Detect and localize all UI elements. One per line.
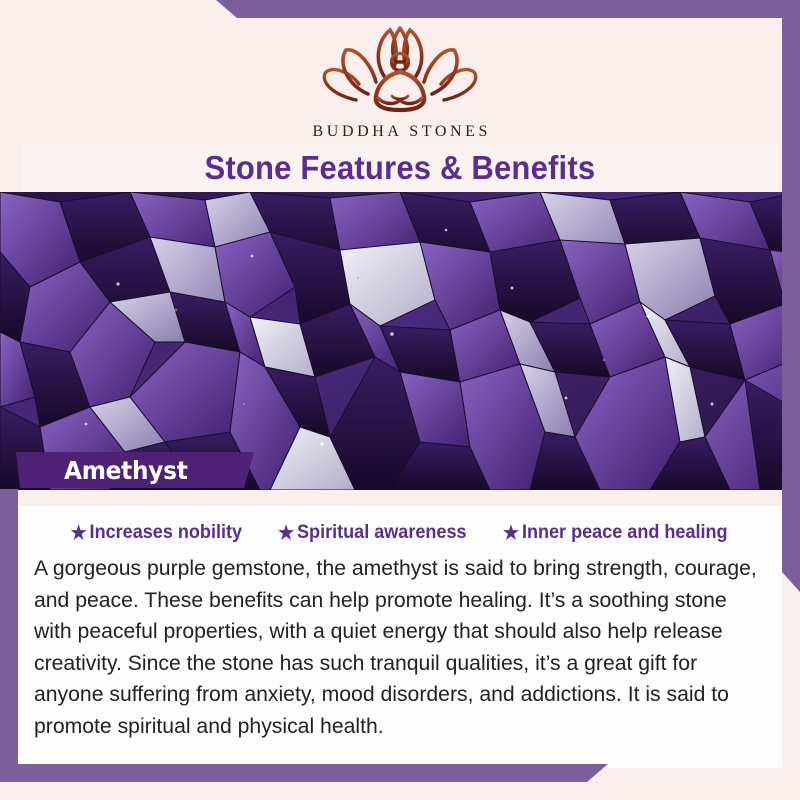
page-title-band: Stone Features & Benefits [22,143,778,192]
stone-description: A gorgeous purple gemstone, the amethyst… [34,553,757,743]
feature-item-0: ★ Increases nobility [71,522,243,544]
card-body: ★ Increases nobility ★ Spiritual awarene… [0,490,800,800]
stone-info-card: BUDDHA STONES Stone Features & Benefits [0,0,800,800]
star-icon: ★ [503,524,519,543]
feature-label-0: Increases nobility [90,522,242,544]
lotus-meditation-icon [0,22,800,119]
feature-label-2: Inner peace and healing [522,522,728,544]
brand-name: BUDDHA STONES [0,123,800,141]
frame-accent-left [0,489,18,782]
feature-item-2: ★ Inner peace and healing [503,522,728,544]
body-content-panel: ★ Increases nobility ★ Spiritual awarene… [18,506,782,768]
feature-item-1: ★ Spiritual awareness [278,522,467,544]
feature-label-1: Spiritual awareness [297,522,467,544]
star-icon: ★ [71,524,87,543]
star-icon: ★ [278,524,294,543]
page-title: Stone Features & Benefits [205,149,596,187]
stone-name-banner: Amethyst [16,452,254,488]
stone-name: Amethyst [64,456,188,485]
amethyst-photo [0,192,800,490]
frame-accent-top [216,0,800,18]
frame-accent-right [782,0,800,592]
card-header: BUDDHA STONES Stone Features & Benefits [0,0,800,192]
brand-logo: BUDDHA STONES [0,22,800,141]
frame-accent-bottom [0,764,608,782]
feature-list: ★ Increases nobility ★ Spiritual awarene… [18,506,782,544]
